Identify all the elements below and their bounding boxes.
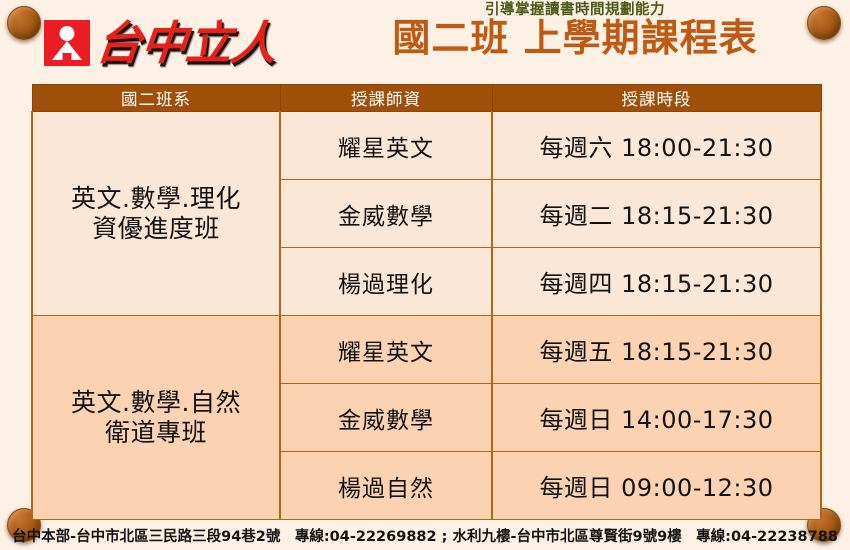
logo-legs-notch [63,53,72,66]
teacher-cell: 楊過理化 [280,248,492,316]
page-title: 國二班 上學期課程表 [355,18,795,59]
group-label-line2: 衛道專班 [39,418,273,448]
title-block: 引導掌握讀書時間規劃能力 國二班 上學期課程表 [355,2,795,59]
standing-person-logo-icon [44,20,90,66]
column-header-teacher: 授課師資 [280,85,492,112]
group-label-cell: 英文.數學.理化 資優進度班 [32,112,280,316]
teacher-cell: 金威數學 [280,384,492,452]
teacher-cell: 金威數學 [280,180,492,248]
teacher-cell: 耀星英文 [280,112,492,180]
timeslot-cell: 每週四 18:15-21:30 [492,248,821,316]
timeslot-cell: 每週二 18:15-21:30 [492,180,821,248]
teacher-cell: 耀星英文 [280,316,492,384]
course-schedule-table: 國二班系 授課師資 授課時段 英文.數學.理化 資優進度班 耀星英文 每週六 1… [31,84,822,520]
group-label-line2: 資優進度班 [39,214,273,244]
brand-lockup: 台中立人 [44,20,276,66]
table-row: 英文.數學.自然 衛道專班 耀星英文 每週五 18:15-21:30 [32,316,821,384]
column-header-class: 國二班系 [32,85,280,112]
teacher-cell: 楊過自然 [280,452,492,520]
logo-head-shape [60,26,75,41]
timeslot-cell: 每週日 09:00-12:30 [492,452,821,520]
table-row: 英文.數學.理化 資優進度班 耀星英文 每週六 18:00-21:30 [32,112,821,180]
timeslot-cell: 每週五 18:15-21:30 [492,316,821,384]
timeslot-cell: 每週日 14:00-17:30 [492,384,821,452]
poster-header: 台中立人 引導掌握讀書時間規劃能力 國二班 上學期課程表 [0,0,850,84]
brand-name: 台中立人 [94,20,279,66]
timeslot-cell: 每週六 18:00-21:30 [492,112,821,180]
table-header-row: 國二班系 授課師資 授課時段 [32,85,821,112]
group-label-line1: 英文.數學.自然 [39,388,273,418]
group-label-line1: 英文.數學.理化 [39,184,273,214]
footer-contact-info: 台中本部-台中市北區三民路三段94巷2號 專線:04-22269882 ; 水利… [0,525,850,546]
course-schedule-poster: 台中立人 引導掌握讀書時間規劃能力 國二班 上學期課程表 國二班系 授課師資 授… [0,0,850,550]
group-label-cell: 英文.數學.自然 衛道專班 [32,316,280,520]
column-header-timeslot: 授課時段 [492,85,821,112]
